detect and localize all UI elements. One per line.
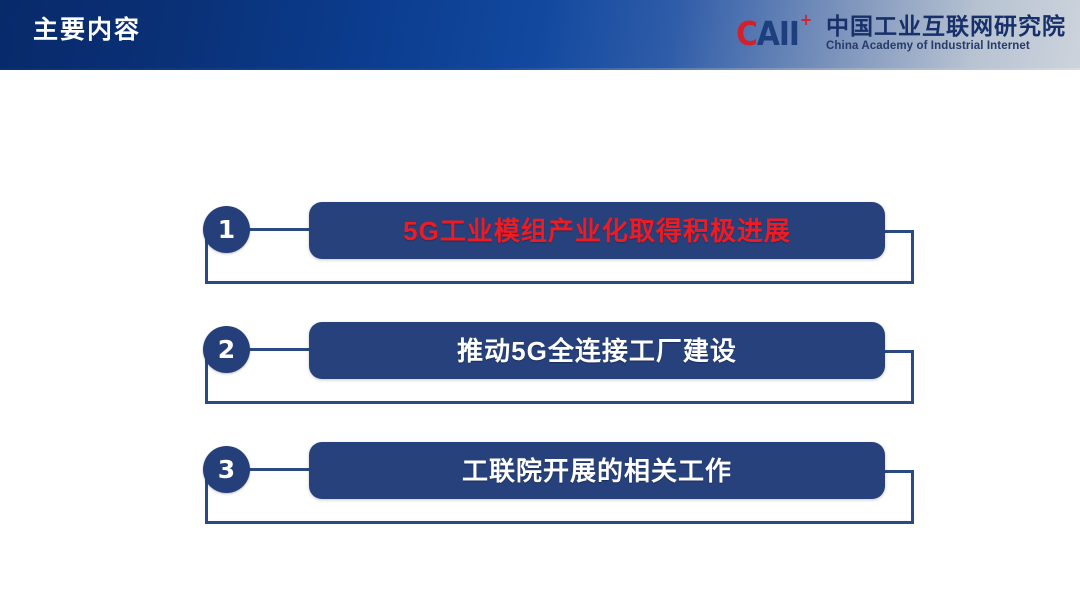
agenda-number-badge[interactable]: 1 xyxy=(203,206,250,253)
agenda-item-label: 工联院开展的相关工作 xyxy=(462,458,732,484)
logo-name-english: China Academy of Industrial Internet xyxy=(826,40,1066,53)
logo-name-chinese: 中国工业互联网研究院 xyxy=(826,14,1066,39)
agenda-content: 1 5G工业模组产业化取得积极进展 2 推动5G全连接工厂建设 3 工联院开展的… xyxy=(0,70,1080,608)
caii-logo-mark: CAII+ xyxy=(736,17,820,50)
agenda-item-1[interactable]: 1 5G工业模组产业化取得积极进展 xyxy=(0,182,1080,304)
bracket-stub-segment xyxy=(884,230,914,233)
bracket-bottom-segment xyxy=(205,521,914,524)
connector-line xyxy=(246,468,312,471)
agenda-item-box[interactable]: 工联院开展的相关工作 xyxy=(309,442,885,499)
agenda-item-label: 5G工业模组产业化取得积极进展 xyxy=(403,218,791,244)
agenda-item-box[interactable]: 推动5G全连接工厂建设 xyxy=(309,322,885,379)
agenda-number-badge[interactable]: 3 xyxy=(203,446,250,493)
agenda-item-2[interactable]: 2 推动5G全连接工厂建设 xyxy=(0,302,1080,424)
logo-letter-c: C xyxy=(736,14,757,53)
agenda-item-label: 推动5G全连接工厂建设 xyxy=(457,338,737,364)
bracket-right-segment xyxy=(911,350,914,404)
logo-letters-aii: AII xyxy=(757,14,799,53)
connector-line xyxy=(246,228,312,231)
bracket-stub-segment xyxy=(884,470,914,473)
bracket-bottom-segment xyxy=(205,281,914,284)
bracket-right-segment xyxy=(911,230,914,284)
page-title: 主要内容 xyxy=(33,18,141,43)
bracket-stub-segment xyxy=(884,350,914,353)
logo-plus-icon: + xyxy=(800,10,811,29)
agenda-number-badge[interactable]: 2 xyxy=(203,326,250,373)
logo-wordmark: 中国工业互联网研究院 China Academy of Industrial I… xyxy=(826,14,1066,52)
bracket-right-segment xyxy=(911,470,914,524)
slide-header: 主要内容 CAII+ 中国工业互联网研究院 China Academy of I… xyxy=(0,0,1080,70)
connector-line xyxy=(246,348,312,351)
agenda-item-box[interactable]: 5G工业模组产业化取得积极进展 xyxy=(309,202,885,259)
organization-logo: CAII+ 中国工业互联网研究院 China Academy of Indust… xyxy=(736,8,1066,58)
agenda-item-3[interactable]: 3 工联院开展的相关工作 xyxy=(0,422,1080,544)
bracket-bottom-segment xyxy=(205,401,914,404)
